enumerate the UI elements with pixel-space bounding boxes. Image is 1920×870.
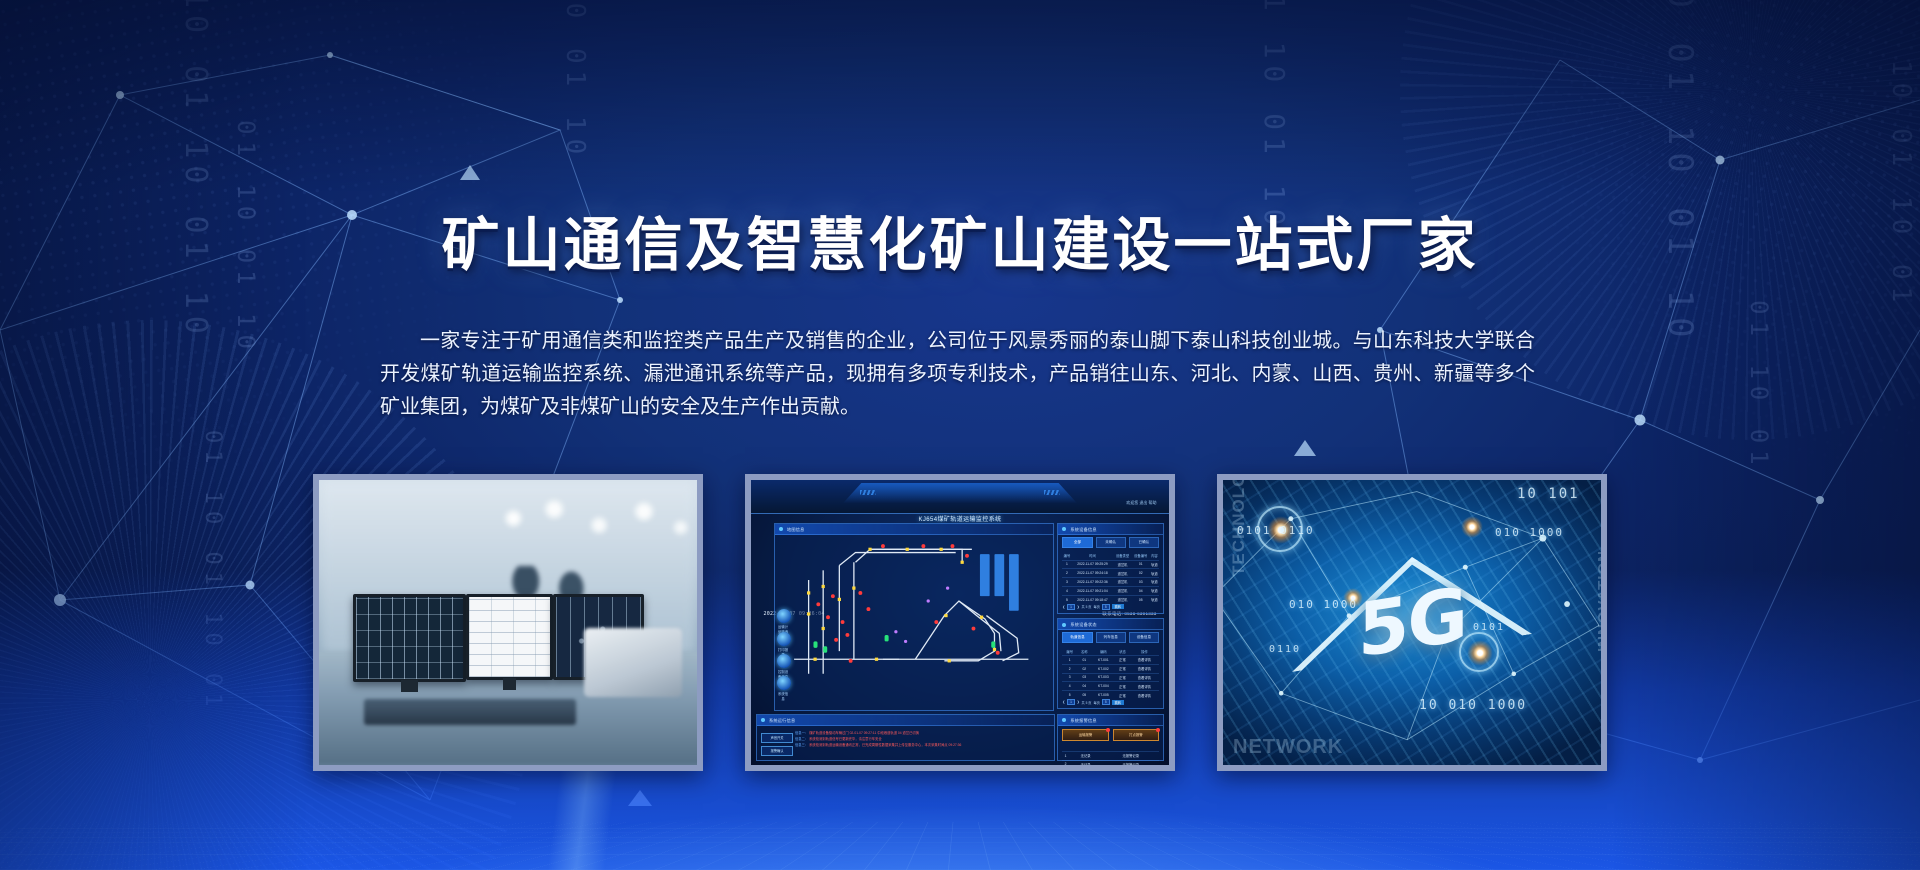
hud-glow-right [1467,640,1493,666]
monitoring-dashboard-screenshot: KJ654煤矿轨道运输监控系统 2022-11-07 09:26:04 联系电话… [751,480,1169,765]
tab-eq2-1[interactable]: 列车信息 [1096,632,1126,643]
table-row: 303KT-003正常查看详情 [1062,673,1159,682]
table-row: 505KT-005正常查看详情 [1062,691,1159,699]
binary-label-3: 0101 [1473,622,1505,633]
alarm-table: 1无记录无报警记录 2无记录无报警记录 [1062,751,1159,765]
log-buttons: 声音开关 报警确认 [761,733,793,759]
th-eq2-3: 状态 [1115,647,1130,655]
table-row: 404KT-004正常查看详情 [1062,682,1159,691]
page-size[interactable]: 5 [1102,699,1110,705]
hud-glow-top [1461,516,1483,538]
transport-alarm-button[interactable]: 运输报警 [1062,729,1108,741]
next-page-icon[interactable]: ❯ [1077,700,1080,704]
prev-page-icon[interactable]: ❮ [1062,700,1065,704]
dashboard-side-button-1[interactable]: 打印报表 [777,632,789,657]
equipment-info-table: 编号 时间 设备类型 设备编号 内容 12022-11-07 09:25:29道… [1062,552,1159,604]
panel-title-equipment-status: 系统设备状态 [1058,619,1163,630]
alarm-buttons: 运输报警 打点报警 [1062,729,1159,741]
current-page[interactable]: 1 [1067,604,1075,610]
dashboard-panel-log: 系统运行信息 声音开关 报警确认 信息一： 煤矿轨道设备驱动车辆过门 02-01… [756,714,1055,761]
th-eq2-0: 编号 [1062,647,1077,655]
dashboard-panel-equipment-info: 系统设备信息 全部 未确认 已确认 编号 时间 设备类型 [1057,523,1164,614]
tab-eq1-2[interactable]: 已确认 [1129,537,1159,548]
equipment-status-tabs: 轨道信息 列车信息 设备信息 [1062,632,1159,643]
page-title: 矿山通信及智慧化矿山建设一站式厂家 [0,198,1920,282]
table-header-row: 编号 时间 设备类型 设备编号 内容 [1062,552,1159,560]
dashboard-user-menu[interactable]: 欢迎您 退出 帮助 [1126,500,1156,506]
wordmark-network: NETWORK [1233,736,1343,759]
table-header-row: 编号 名称 编码 状态 操作 [1062,647,1159,655]
tab-eq1-0[interactable]: 全部 [1062,537,1092,548]
five-g-logo: 5G [1358,571,1466,674]
binary-label-4: 0110 [1269,644,1301,655]
equipment-info-pager: ❮ 1 ❯ 共 5 页 每页 5 跳转 [1062,604,1159,610]
gallery-item-five-g[interactable]: 5G 0101 0110 010 1000 010 1000 0101 0110… [1217,474,1607,771]
dashboard-side-button-2[interactable]: 控制设备信息 [777,654,789,679]
next-page-icon[interactable]: ❯ [1077,605,1080,609]
tab-eq1-1[interactable]: 未确认 [1096,537,1126,548]
per-page-label: 每页 [1093,604,1099,609]
th-eq1-1: 时间 [1072,552,1114,560]
th-eq1-2: 设备类型 [1113,552,1131,560]
equipment-status-pager: ❮ 1 ❯ 共 5 页 每页 5 跳转 [1062,699,1159,705]
table-row: 42022-11-07 09:21:04道岔机04轨道 [1062,586,1159,595]
table-row: 202KT-002正常查看详情 [1062,664,1159,673]
panel-title-equipment-info: 系统设备信息 [1058,524,1163,535]
dashboard-panel-equipment-status: 系统设备状态 轨道信息 列车信息 设备信息 编号 名称 编码 [1057,618,1164,709]
rail-network-diagram [786,538,1045,675]
sound-toggle-button[interactable]: 声音开关 [761,733,793,743]
equipment-status-table: 编号 名称 编码 状态 操作 101KT-001正常查看详情 202KT-002… [1062,647,1159,699]
current-page[interactable]: 1 [1067,699,1075,705]
th-eq1-4: 内容 [1150,552,1159,560]
go-button[interactable]: 跳转 [1112,700,1124,705]
page-size[interactable]: 5 [1102,604,1110,610]
table-row: 101KT-001正常查看详情 [1062,656,1159,665]
dashboard-panel-map: 地图信息 [774,523,1054,711]
panel-title-alarm: 系统报警信息 [1058,715,1163,726]
panel-title-log: 系统运行信息 [757,715,1054,726]
tab-eq2-2[interactable]: 设备信息 [1129,632,1159,643]
per-page-label: 每页 [1093,700,1099,705]
log-line: 信息三： 系统检测到轨道运输设备通讯正常，已完成周期性数据采集并上传至服务中心，… [795,742,1042,748]
table-row: 1无记录无报警记录 [1062,751,1159,760]
page-count: 共 5 页 [1082,604,1092,609]
binary-label-5: 10 010 1000 [1419,698,1527,713]
control-room-photo [319,480,697,765]
table-row: 2无记录无报警记录 [1062,760,1159,765]
five-g-concept-image: 5G 0101 0110 010 1000 010 1000 0101 0110… [1223,480,1601,765]
binary-label-2: 010 1000 [1289,598,1358,611]
table-row: 32022-11-07 09:22:36道岔机03轨道 [1062,578,1159,587]
equipment-info-tabs: 全部 未确认 已确认 [1062,537,1159,548]
go-button[interactable]: 跳转 [1112,604,1124,609]
tab-eq2-0[interactable]: 轨道信息 [1062,632,1092,643]
th-eq2-4: 操作 [1130,647,1159,655]
gallery-item-monitoring-dashboard[interactable]: KJ654煤矿轨道运输监控系统 2022-11-07 09:26:04 联系电话… [745,474,1175,771]
dashboard-side-button-3[interactable]: 系统信息 [777,676,789,701]
dashboard-topbar [751,480,1169,514]
th-eq1-3: 设备编号 [1132,552,1150,560]
panel-title-map: 地图信息 [775,524,1053,535]
th-eq2-2: 编码 [1092,647,1116,655]
th-eq2-1: 名称 [1077,647,1092,655]
prev-page-icon[interactable]: ❮ [1062,605,1065,609]
binary-label-1: 010 1000 [1495,526,1564,539]
dashboard-side-button-0[interactable]: 运输计划查询 [777,609,789,634]
wordmark-innovation: INNOVATION [1595,550,1601,652]
image-gallery: 矿山调度控制室多屏监控工作站 KJ654煤矿轨道运输监控系统 2022-11-0… [0,474,1920,771]
table-row: 22022-11-07 09:24:18道岔机02轨道 [1062,569,1159,578]
log-list: 信息一： 煤矿轨道设备驱动车辆过门 02-01-07 09:27:11 中段巷道… [795,730,1042,757]
page-count: 共 5 页 [1082,700,1092,705]
alarm-ack-button[interactable]: 报警确认 [761,746,793,756]
dashboard-panel-alarm: 系统报警信息 运输报警 打点报警 1无记录无报警记录 2无记录无报警记录 [1057,714,1164,761]
table-row: 52022-11-07 09:18:47道岔机05轨道 [1062,595,1159,603]
gallery-item-control-room[interactable]: 矿山调度控制室多屏监控工作站 [313,474,703,771]
wordmark-technology: TECHNOLOGY [1229,480,1249,576]
binary-label-6: 10 101 [1517,486,1580,502]
table-row: 12022-11-07 09:25:29道岔机01轨道 [1062,560,1159,569]
hero-banner: 10 01 10 01 10 01 10 01 10 01 10 01 10 0… [0,0,1920,870]
company-description: 一家专注于矿用通信类和监控类产品生产及销售的企业，公司位于风景秀丽的泰山脚下泰山… [380,325,1535,424]
th-eq1-0: 编号 [1062,552,1071,560]
signal-alarm-button[interactable]: 打点报警 [1113,729,1159,741]
